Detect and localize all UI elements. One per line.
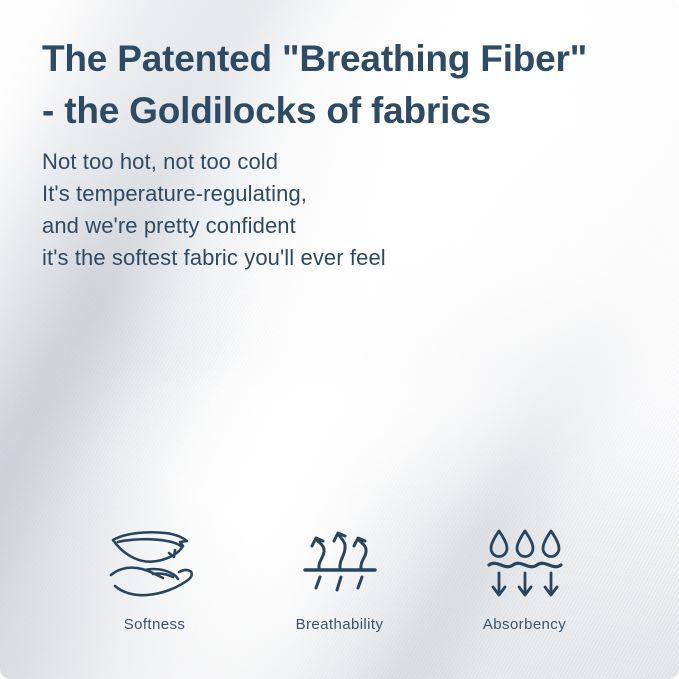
product-feature-banner: The Patented "Breathing Fiber" - the Gol… [0, 0, 679, 679]
rising-air-arrows-icon [303, 528, 377, 600]
feature-list: Softness [0, 528, 679, 633]
feather-over-hand-icon [109, 528, 201, 600]
subcopy: Not too hot, not too cold It's temperatu… [42, 146, 562, 274]
feature-label: Softness [124, 616, 186, 633]
subcopy-line-1: Not too hot, not too cold [42, 146, 562, 178]
feature-label: Breathability [296, 616, 384, 633]
headline: The Patented "Breathing Fiber" - the Gol… [42, 33, 654, 137]
water-droplets-down-arrows-icon [486, 528, 564, 600]
subcopy-line-2: It's temperature-regulating, [42, 178, 562, 210]
feature-softness: Softness [62, 528, 247, 633]
headline-line-2: - the Goldilocks of fabrics [42, 90, 491, 131]
subcopy-line-4: it's the softest fabric you'll ever feel [42, 242, 562, 274]
feature-label: Absorbency [483, 616, 566, 633]
feature-absorbency: Absorbency [432, 528, 617, 633]
headline-line-1: The Patented "Breathing Fiber" [42, 38, 587, 79]
subcopy-line-3: and we're pretty confident [42, 210, 562, 242]
feature-breathability: Breathability [247, 528, 432, 633]
